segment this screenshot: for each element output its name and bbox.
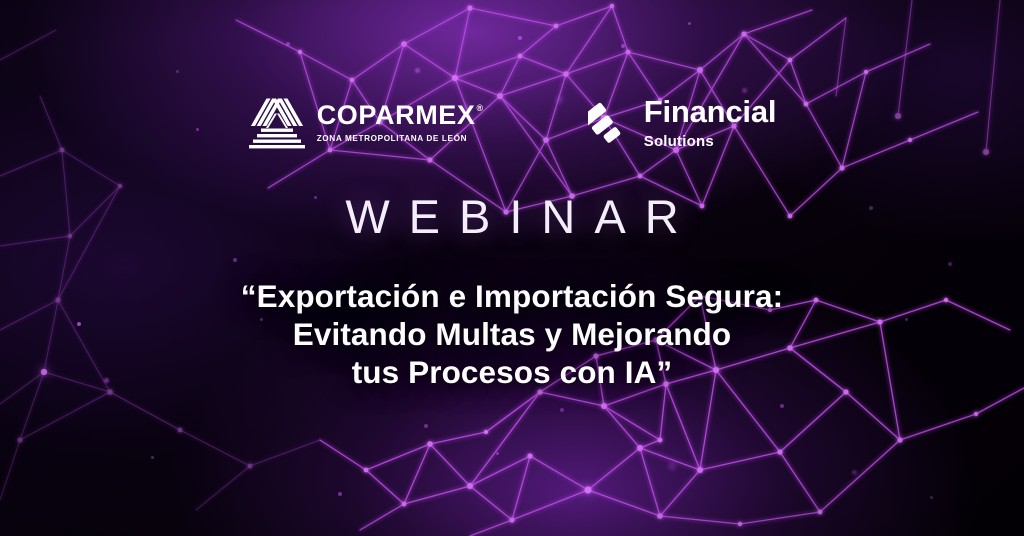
logo-row: COPARMEX ® ZONA METROPOLITANA DE LEÓN (248, 96, 777, 149)
coparmex-triangle-mark-icon (248, 97, 306, 149)
webinar-title: “Exportación e Importación Segura: Evita… (241, 278, 784, 391)
coparmex-wordmark: COPARMEX ® (317, 102, 484, 129)
registered-trademark-icon: ® (477, 104, 484, 113)
coparmex-logo: COPARMEX ® ZONA METROPOLITANA DE LEÓN (248, 97, 484, 149)
financial-solutions-wordmark: Financial (644, 96, 777, 127)
financial-solutions-subtitle: Solutions (644, 134, 777, 149)
coparmex-name-text: COPARMEX (317, 102, 476, 129)
financial-solutions-logo: Financial Solutions (588, 96, 777, 149)
webinar-title-line-1: “Exportación e Importación Segura: (241, 278, 784, 316)
webinar-title-line-2: Evitando Multas y Mejorando (241, 316, 784, 354)
webinar-eyebrow-label: WEBINAR (326, 193, 697, 240)
financial-solutions-bars-mark-icon (588, 100, 630, 146)
webinar-title-line-3: tus Procesos con IA” (241, 354, 784, 392)
webinar-banner: COPARMEX ® ZONA METROPOLITANA DE LEÓN (0, 0, 1024, 536)
coparmex-subtitle: ZONA METROPOLITANA DE LEÓN (317, 134, 484, 143)
